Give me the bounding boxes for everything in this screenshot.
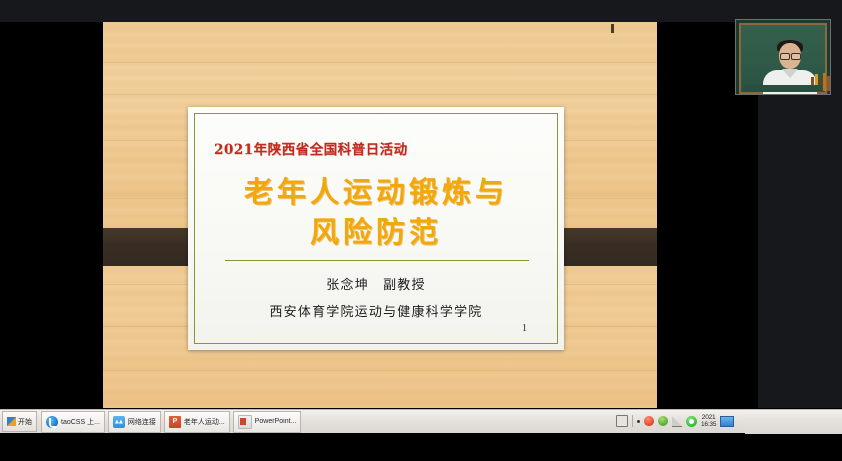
slide-kicker-text: 2021年陕西省全国科普日活动 [214,138,408,158]
book [823,73,826,91]
start-button-label: 开始 [18,417,32,427]
slide-page-number: 1 [522,323,527,334]
slide-title-line-2: 风险防范 [195,212,557,252]
presenter-glasses-right [791,53,801,60]
system-tray[interactable]: 2021 16:35 [616,411,734,431]
slide-divider-rule [225,260,529,261]
taskbar-item-powerpoint[interactable]: P 老年人运动... [164,411,230,433]
slide-card-inner-border: 2021年陕西省全国科普日活动 老年人运动锻炼与 风险防范 张念坤 副教授 西安… [194,113,558,344]
tray-separator [632,415,633,427]
desk-surface [744,85,822,92]
taskbar-item-powerpoint-file[interactable]: PowerPoint... [233,411,302,433]
shield-icon[interactable] [658,416,668,426]
dot-icon[interactable] [637,420,640,423]
tray-clock-line-1: 2021 [702,414,716,421]
screen-capture: 2021年陕西省全国科普日活动 老年人运动锻炼与 风险防范 张念坤 副教授 西安… [0,0,842,461]
book [827,76,830,91]
tray-clock-line-2: 16:35 [701,421,716,428]
presenter-webcam-overlay[interactable] [735,19,831,95]
chalkboard-background [739,23,827,94]
slide-main-title: 老年人运动锻炼与 风险防范 [195,172,557,252]
taskbar-item-label: 老年人运动... [184,417,225,427]
browser-icon [46,416,58,428]
antivirus-icon[interactable] [644,416,654,426]
presenter-pointer-mark [611,24,614,33]
signal-icon[interactable] [672,416,682,427]
frame-band-top [0,0,842,22]
frame-band-left [0,22,103,408]
slide-presenter-name: 张念坤 副教授 [195,274,557,293]
slide-title-line-1: 老年人运动锻炼与 [195,172,557,212]
presentation-slide[interactable]: 2021年陕西省全国科普日活动 老年人运动锻炼与 风险防范 张念坤 副教授 西安… [103,22,657,408]
taskbar-empty-area [745,409,842,434]
windows-logo-icon [7,417,16,426]
powerpoint-icon: P [169,416,181,428]
taskbar-item-label: taoCSS 上... [61,417,100,427]
wechat-icon [113,416,125,428]
presenter-glasses-left [780,53,790,60]
start-button[interactable]: 开始 [2,411,37,432]
language-indicator-icon[interactable] [720,416,734,427]
wood-texture-line [103,62,657,63]
taskbar-item-browser[interactable]: taoCSS 上... [41,411,105,433]
monitor-icon[interactable] [616,415,628,427]
powerpoint-file-icon [238,415,252,429]
taskbar-item-label: PowerPoint... [255,418,297,425]
taskbar-item-label: 网络连接 [128,417,156,427]
taskbar-item-wechat[interactable]: 网络连接 [108,411,161,433]
tray-clock[interactable]: 2021 16:35 [701,414,716,428]
slide-title-card: 2021年陕西省全国科普日活动 老年人运动锻炼与 风险防范 张念坤 副教授 西安… [188,107,564,350]
wood-texture-line [103,94,657,95]
slide-affiliation: 西安体育学院运动与健康科学学院 [195,301,557,320]
wood-texture-line [103,370,657,371]
qq-icon[interactable] [686,416,697,427]
